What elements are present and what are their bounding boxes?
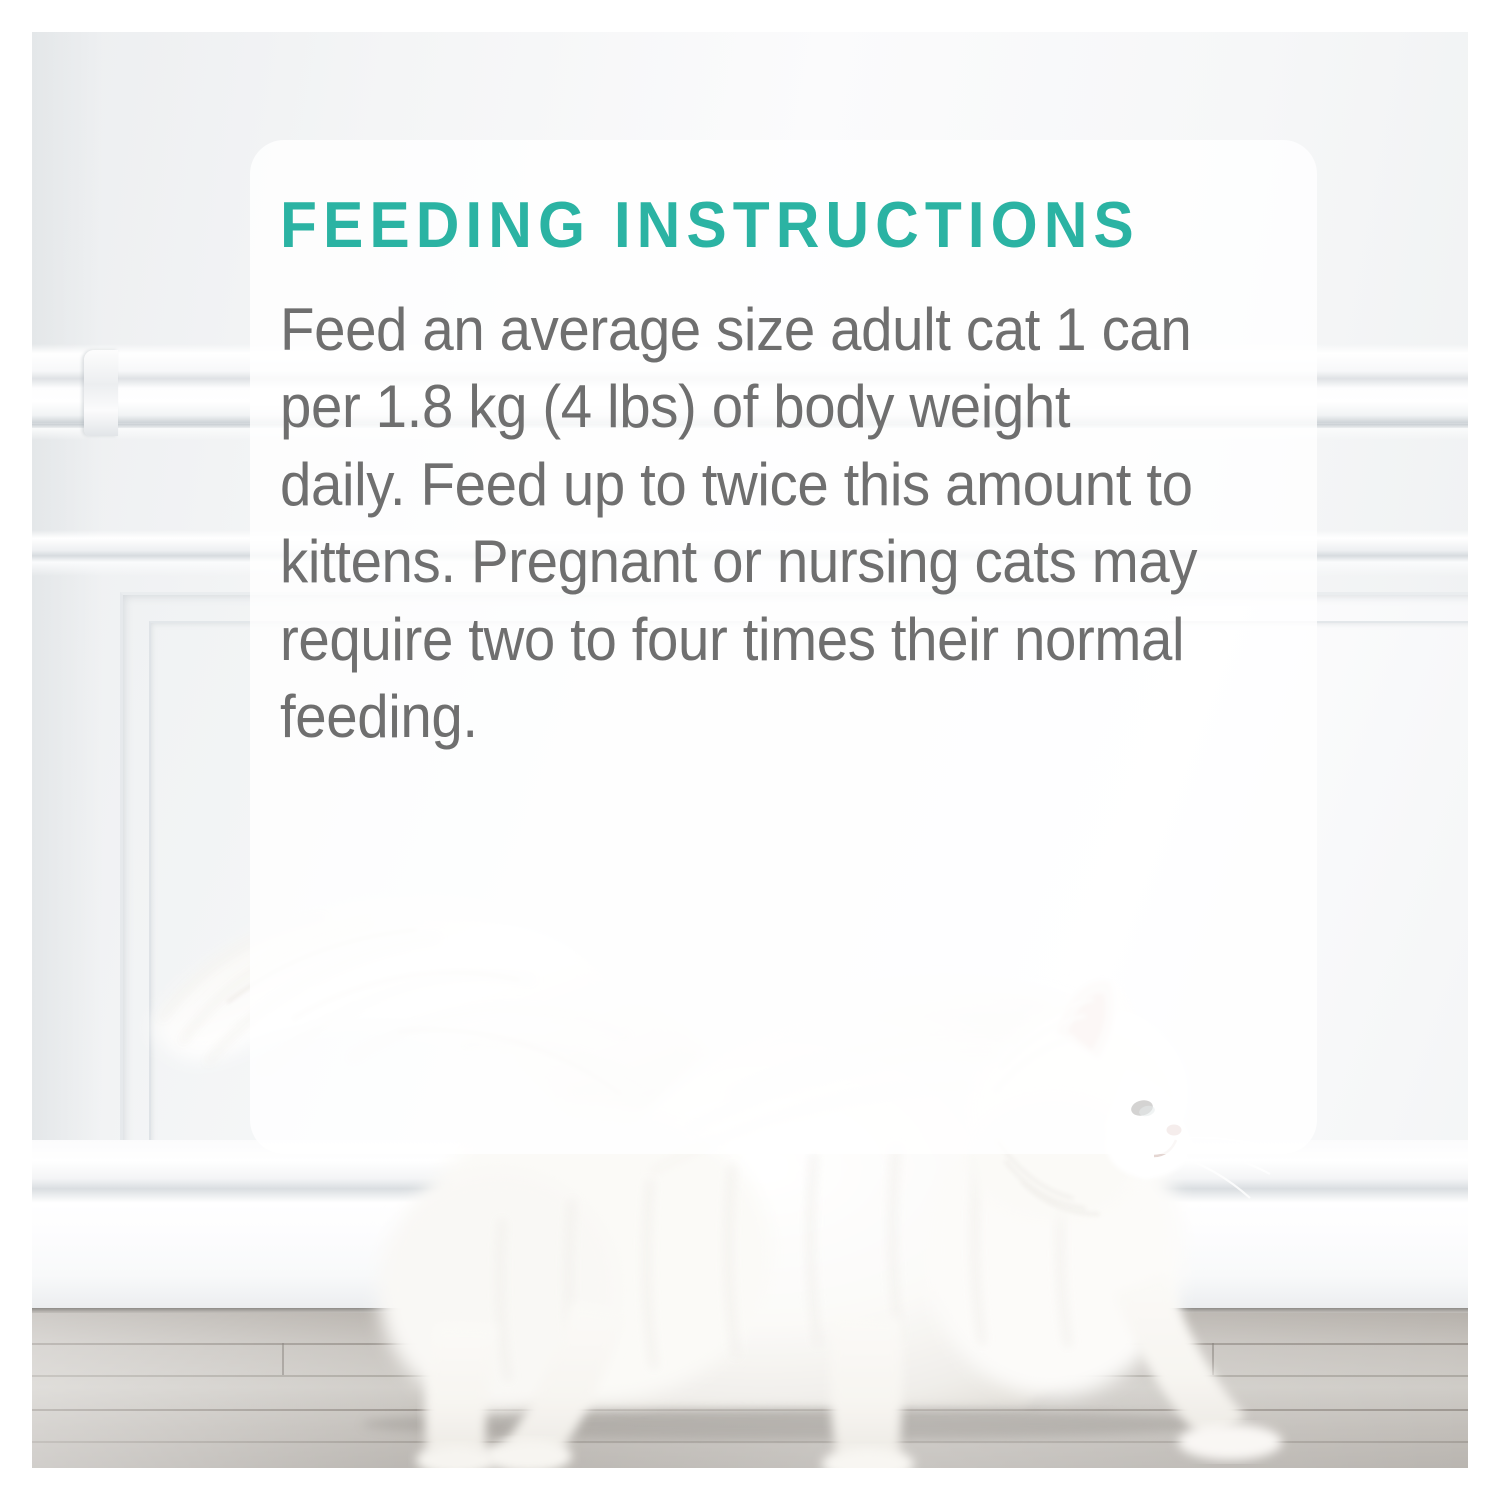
page-title: FEEDING INSTRUCTIONS [280, 192, 1192, 257]
floor-sheen [32, 1313, 1468, 1468]
baseboard-molding [32, 1140, 1468, 1314]
wall-left-shading [32, 32, 102, 1313]
product-photo: FEEDING INSTRUCTIONS Feed an average siz… [32, 32, 1468, 1468]
molding-end-cap [84, 350, 118, 436]
feeding-instructions-text: Feed an average size adult cat 1 can per… [280, 291, 1202, 755]
feeding-instructions-card: FEEDING INSTRUCTIONS Feed an average siz… [250, 140, 1317, 1154]
wood-floor [32, 1313, 1468, 1468]
package-panel: FEEDING INSTRUCTIONS Feed an average siz… [0, 0, 1500, 1500]
